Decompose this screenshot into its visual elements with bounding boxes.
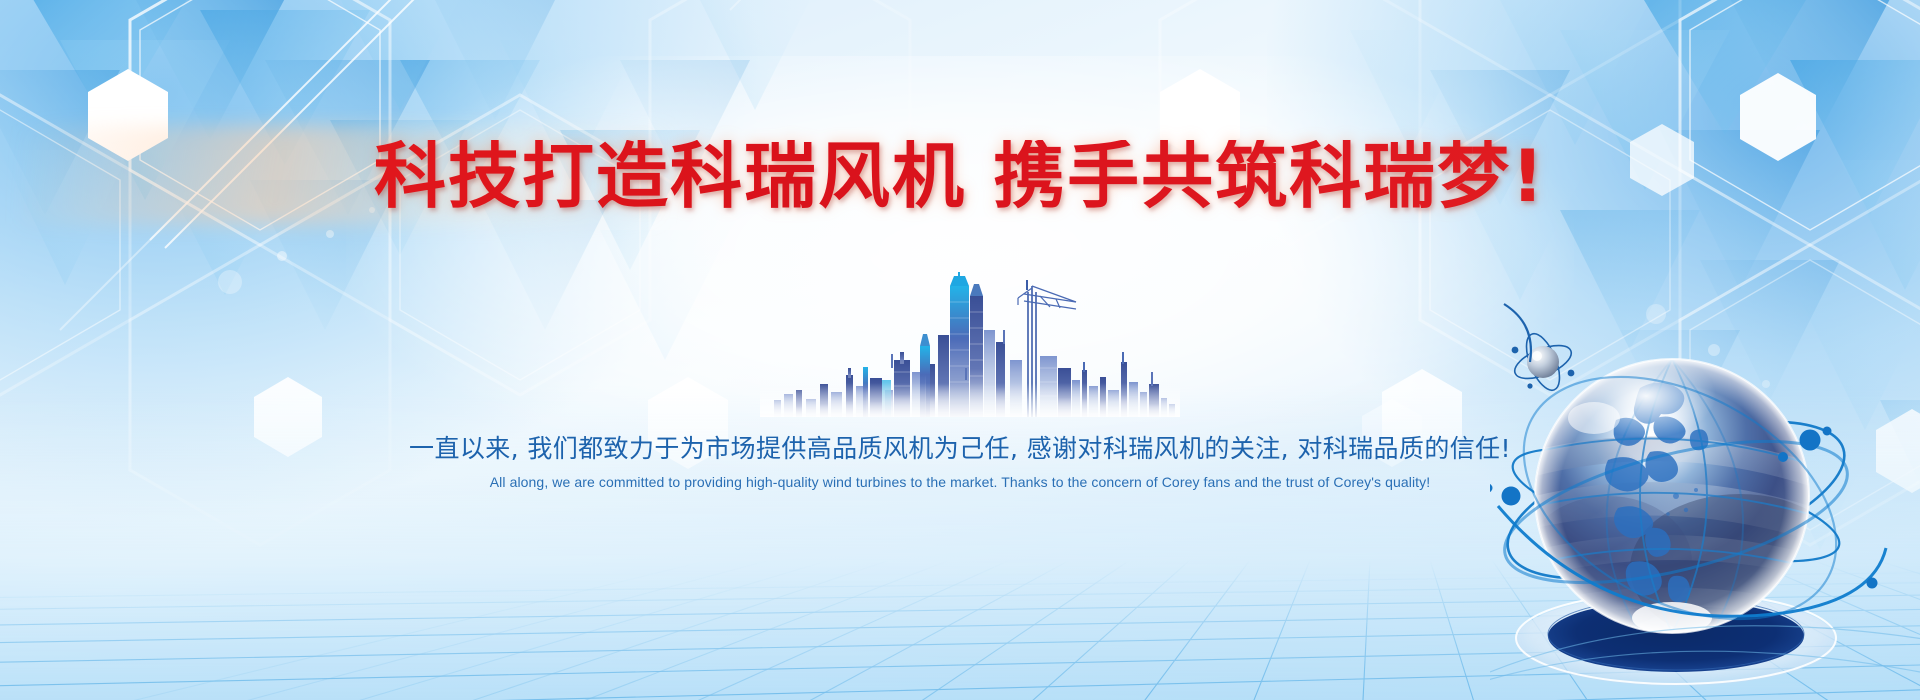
subtitle-chinese: 一直以来, 我们都致力于为市场提供高品质风机为己任, 感谢对科瑞风机的关注, 对… — [0, 429, 1920, 465]
page-title: 科技打造科瑞风机 携手共筑科瑞梦! — [0, 140, 1920, 212]
banner-text-content: 科技打造科瑞风机 携手共筑科瑞梦! 科技打造科瑞风机 携手共筑科瑞梦! 一直以来… — [0, 0, 1920, 700]
subtitle-english: All along, we are committed to providing… — [0, 474, 1920, 490]
hero-banner: 科技打造科瑞风机 携手共筑科瑞梦! 科技打造科瑞风机 携手共筑科瑞梦! 一直以来… — [0, 0, 1920, 700]
